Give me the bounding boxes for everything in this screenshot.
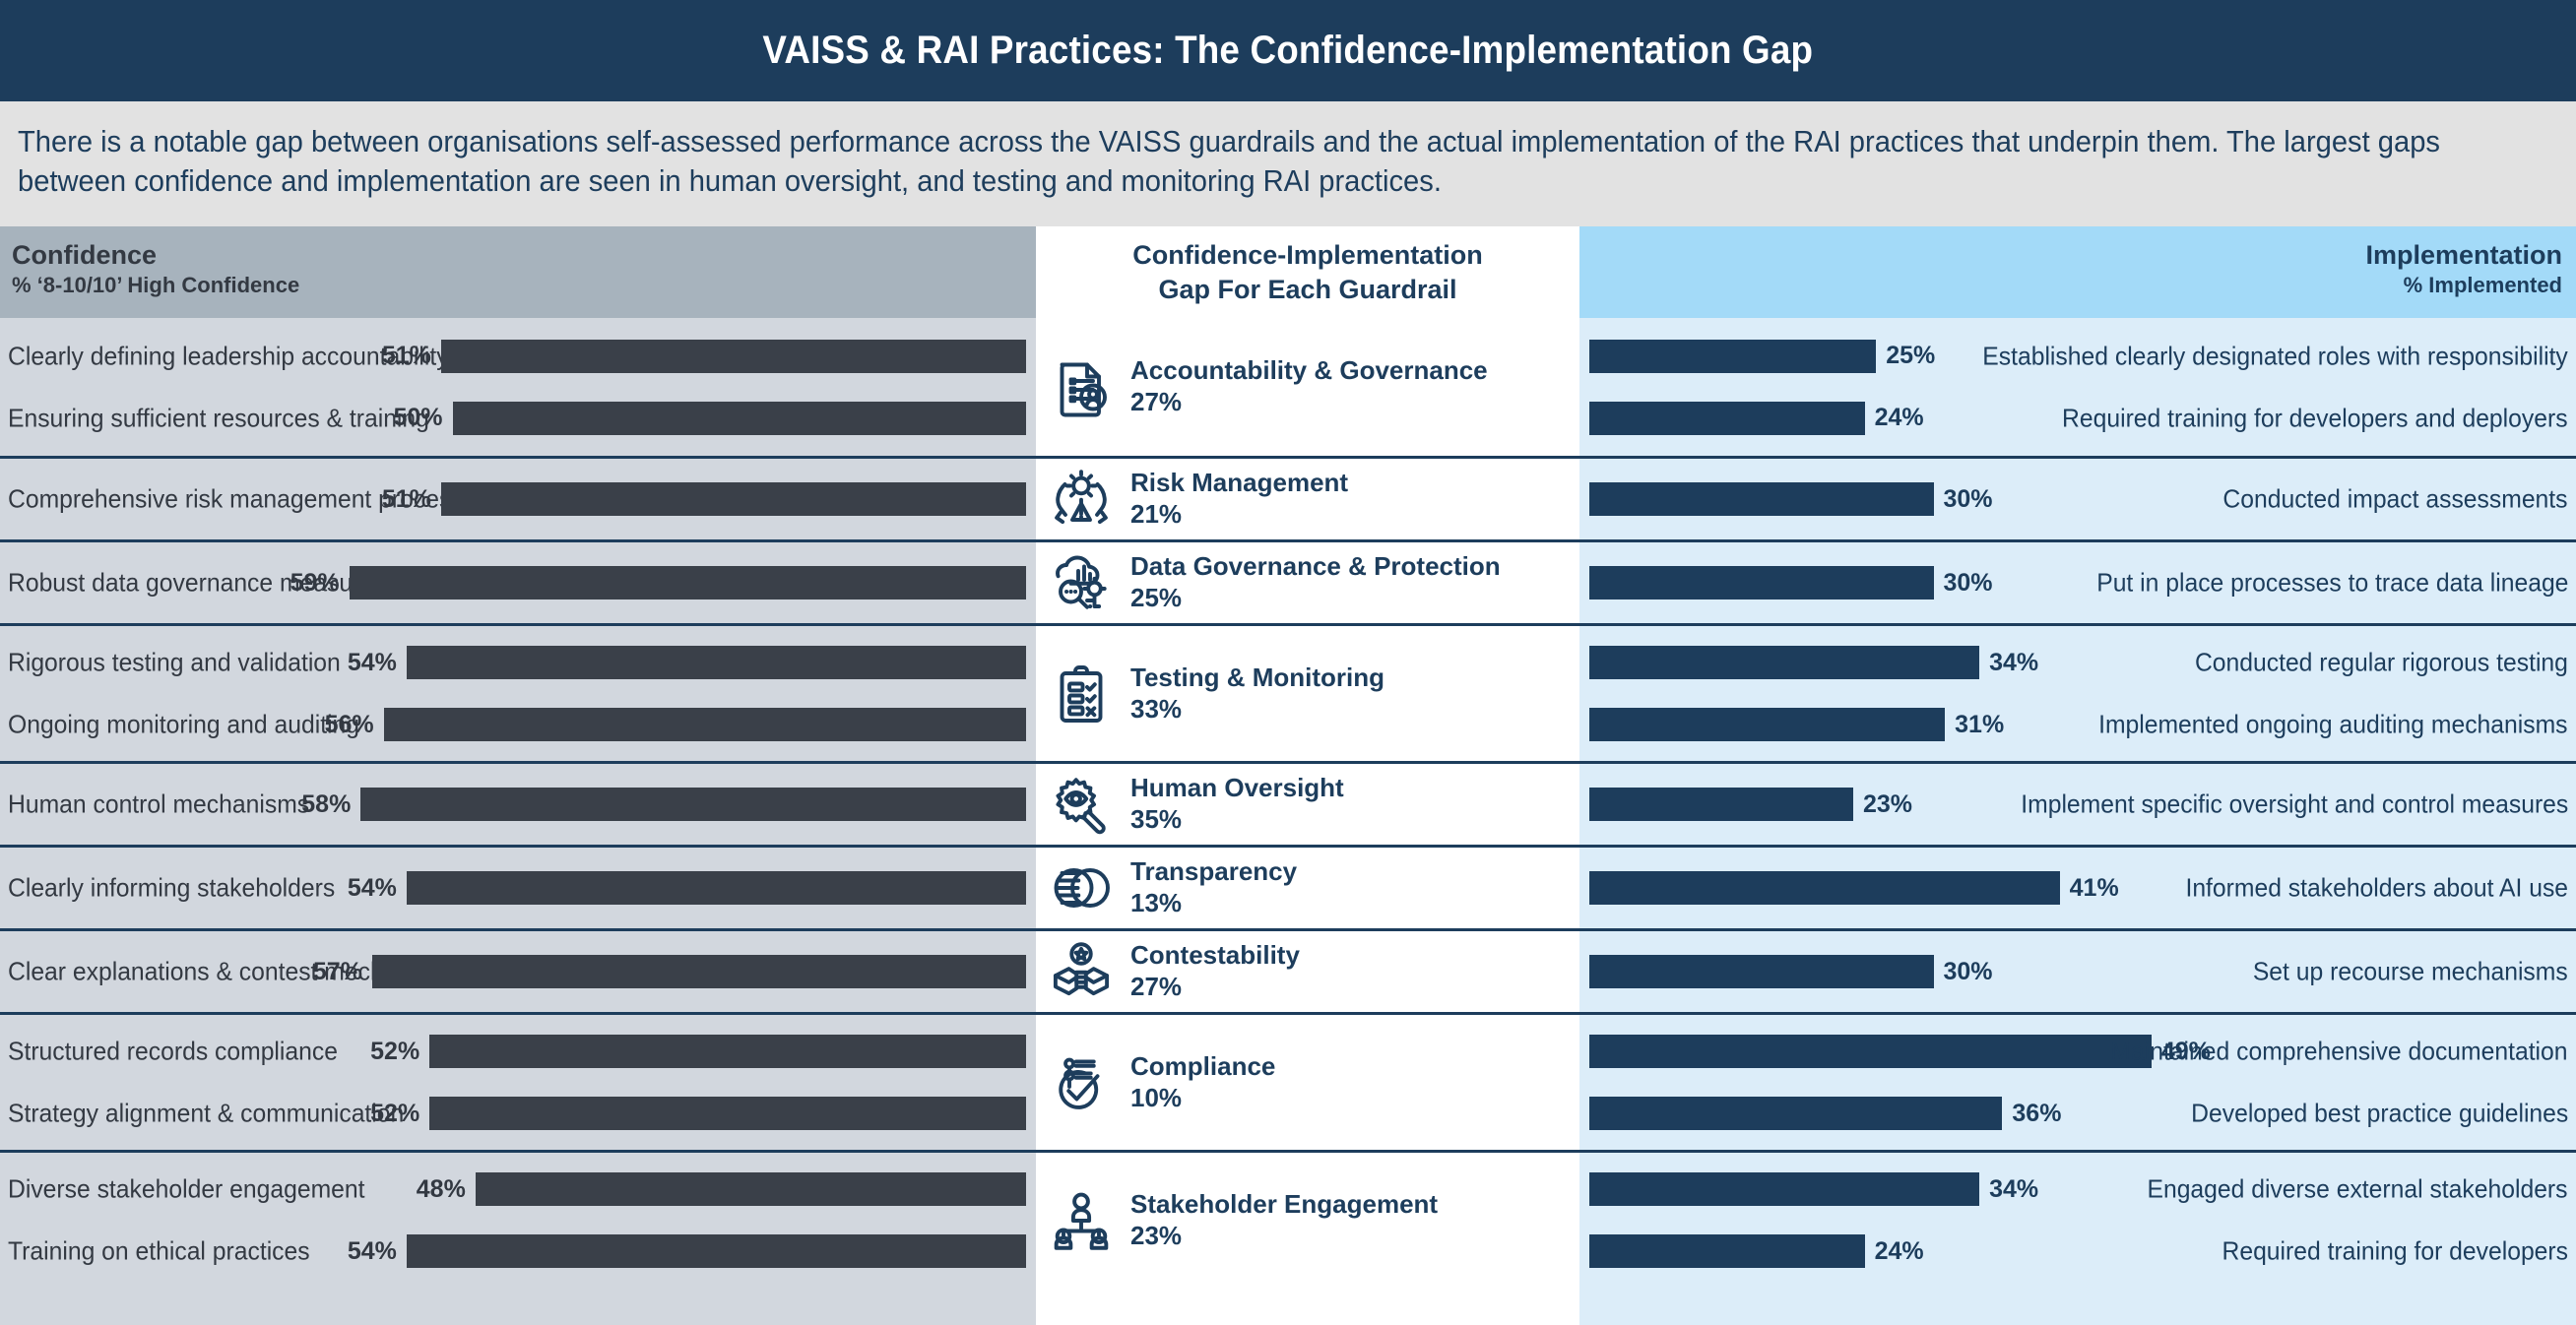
implementation-cell: 30%Set up recourse mechanisms (1579, 931, 2576, 1012)
implementation-bar-group: 34% (1589, 646, 2038, 679)
guardrail-text: Risk Management21% (1130, 468, 1348, 531)
confidence-row: Clearly informing stakeholders54% (0, 857, 1036, 919)
confidence-bar (360, 788, 1026, 821)
confidence-header-title: Confidence (12, 240, 1036, 272)
implementation-value: 34% (1989, 649, 2038, 677)
confidence-bar (407, 871, 1026, 905)
compliance-icon (1046, 1047, 1117, 1118)
confidence-row: Clear explanations & contest mechanisms5… (0, 941, 1036, 1003)
confidence-value: 58% (301, 790, 351, 819)
guardrail-name: Transparency (1130, 856, 1297, 887)
confidence-bar (441, 340, 1026, 373)
implementation-row: 24%Required training for developers and … (1579, 387, 2576, 449)
confidence-practice-label: Training on ethical practices (8, 1236, 310, 1267)
confidence-value: 52% (370, 1100, 419, 1128)
guardrail-gap-cell: Contestability27% (1036, 931, 1579, 1012)
guardrail-text: Data Governance & Protection25% (1130, 551, 1501, 614)
confidence-practice-label: Rigorous testing and validation (8, 648, 341, 678)
confidence-cell: Rigorous testing and validation54%Ongoin… (0, 626, 1036, 761)
implementation-practice-label: Conducted impact assessments (2223, 484, 2568, 515)
implementation-row: 36%Developed best practice guidelines (1579, 1083, 2576, 1145)
gap-header-line1: Confidence-Implementation (1132, 240, 1483, 270)
confidence-bar (441, 482, 1026, 516)
transparency-icon (1046, 852, 1117, 923)
implementation-row: 24%Required training for developers (1579, 1221, 2576, 1283)
confidence-bar (350, 566, 1026, 599)
guardrail-name: Risk Management (1130, 468, 1348, 498)
guardrail-group: Clearly informing stakeholders54%Transpa… (0, 845, 2576, 928)
implementation-bar (1589, 402, 1865, 435)
confidence-practice-label: Diverse stakeholder engagement (8, 1174, 364, 1205)
confidence-row: Diverse stakeholder engagement48% (0, 1159, 1036, 1221)
implementation-cell: 41%Informed stakeholders about AI use (1579, 848, 2576, 928)
implementation-bar (1589, 482, 1934, 516)
confidence-bar (407, 1234, 1026, 1268)
confidence-value: 50% (393, 404, 442, 432)
confidence-practice-label: Clearly informing stakeholders (8, 873, 335, 904)
guardrail-group: Human control mechanisms58%Human Oversig… (0, 761, 2576, 845)
implementation-bar-group: 30% (1589, 955, 1993, 988)
implementation-value: 24% (1875, 404, 1924, 432)
confidence-row: Rigorous testing and validation54% (0, 632, 1036, 694)
confidence-bar (453, 402, 1027, 435)
testing-monitoring-icon (1046, 659, 1117, 729)
confidence-cell: Clearly defining leadership accountabili… (0, 318, 1036, 456)
implementation-value: 23% (1863, 790, 1912, 819)
implementation-cell: 34%Conducted regular rigorous testing31%… (1579, 626, 2576, 761)
confidence-value: 52% (370, 1038, 419, 1066)
implementation-practice-label: Developed best practice guidelines (2191, 1099, 2568, 1129)
guardrail-text: Compliance10% (1130, 1051, 1275, 1114)
implementation-bar-group: 31% (1589, 708, 2004, 741)
confidence-bar (407, 646, 1026, 679)
implementation-bar (1589, 708, 1945, 741)
implementation-column-header: Implementation % Implemented (1579, 226, 2576, 318)
implementation-row: 34%Conducted regular rigorous testing (1579, 632, 2576, 694)
implementation-practice-label: Set up recourse mechanisms (2253, 957, 2568, 987)
implementation-bar-group: 34% (1589, 1172, 2038, 1206)
confidence-practice-label: Human control mechanisms (8, 789, 309, 820)
confidence-row: Clearly defining leadership accountabili… (0, 325, 1036, 387)
guardrail-gap-cell: Accountability & Governance27% (1036, 318, 1579, 456)
guardrail-name: Human Oversight (1130, 773, 1344, 803)
confidence-row: Training on ethical practices54% (0, 1221, 1036, 1283)
confidence-value: 56% (325, 711, 374, 739)
guardrail-text: Transparency13% (1130, 856, 1297, 919)
confidence-row: Structured records compliance52% (0, 1021, 1036, 1083)
guardrail-name: Compliance (1130, 1051, 1275, 1082)
confidence-cell: Robust data governance measures59% (0, 542, 1036, 623)
implementation-bar (1589, 646, 1979, 679)
guardrail-name: Testing & Monitoring (1130, 662, 1385, 693)
implementation-practice-label: Put in place processes to trace data lin… (2096, 568, 2568, 599)
confidence-bar-group: 52% (370, 1097, 1026, 1130)
implementation-practice-label: Maintained comprehensive documentation (2111, 1037, 2568, 1067)
confidence-value: 54% (348, 874, 397, 903)
guardrail-group: Comprehensive risk management processes5… (0, 456, 2576, 539)
implementation-value: 30% (1944, 569, 1993, 598)
guardrail-text: Testing & Monitoring33% (1130, 662, 1385, 726)
implementation-bar (1589, 1035, 2152, 1068)
implementation-value: 41% (2070, 874, 2119, 903)
implementation-row: 30%Set up recourse mechanisms (1579, 941, 2576, 1003)
implementation-row: 49%Maintained comprehensive documentatio… (1579, 1021, 2576, 1083)
confidence-value: 51% (382, 342, 431, 370)
implementation-bar (1589, 1234, 1865, 1268)
confidence-row: Ensuring sufficient resources & training… (0, 387, 1036, 449)
implementation-practice-label: Conducted regular rigorous testing (2195, 648, 2568, 678)
implementation-row: 30%Put in place processes to trace data … (1579, 552, 2576, 614)
confidence-cell: Diverse stakeholder engagement48%Trainin… (0, 1153, 1036, 1288)
implementation-bar (1589, 788, 1853, 821)
implementation-bar (1589, 1097, 2002, 1130)
confidence-value: 54% (348, 1237, 397, 1266)
guardrail-gap-cell: Transparency13% (1036, 848, 1579, 928)
guardrail-name: Contestability (1130, 940, 1300, 971)
confidence-value: 51% (382, 485, 431, 514)
confidence-bar-group: 51% (382, 482, 1026, 516)
implementation-row: 31%Implemented ongoing auditing mechanis… (1579, 694, 2576, 756)
guardrail-name: Accountability & Governance (1130, 355, 1488, 386)
implementation-bar-group: 24% (1589, 1234, 1924, 1268)
implementation-value: 30% (1944, 958, 1993, 986)
confidence-value: 48% (417, 1175, 466, 1204)
guardrail-gap-cell: Data Governance & Protection25% (1036, 542, 1579, 623)
implementation-cell: 34%Engaged diverse external stakeholders… (1579, 1153, 2576, 1288)
confidence-value: 59% (290, 569, 340, 598)
confidence-row: Strategy alignment & communication52% (0, 1083, 1036, 1145)
title-bar: VAISS & RAI Practices: The Confidence-Im… (0, 0, 2576, 101)
accountability-icon (1046, 351, 1117, 422)
implementation-value: 31% (1955, 711, 2004, 739)
guardrail-text: Contestability27% (1130, 940, 1300, 1003)
confidence-cell: Human control mechanisms58% (0, 764, 1036, 845)
confidence-practice-label: Strategy alignment & communication (8, 1099, 404, 1129)
confidence-value: 57% (313, 958, 362, 986)
guardrail-gap-value: 35% (1130, 803, 1344, 836)
implementation-bar-group: 30% (1589, 566, 1993, 599)
implementation-bar-group: 41% (1589, 871, 2119, 905)
confidence-column-header: Confidence % ‘8-10/10’ High Confidence (0, 226, 1036, 318)
confidence-bar-group: 50% (393, 402, 1026, 435)
implementation-value: 25% (1886, 342, 1935, 370)
guardrail-text: Stakeholder Engagement23% (1130, 1189, 1438, 1252)
confidence-bar (429, 1035, 1026, 1068)
confidence-practice-label: Ongoing monitoring and auditing (8, 710, 359, 740)
guardrail-group-list: Clearly defining leadership accountabili… (0, 318, 2576, 1288)
guardrail-name: Stakeholder Engagement (1130, 1189, 1438, 1220)
confidence-bar-group: 58% (301, 788, 1026, 821)
confidence-bar (372, 955, 1026, 988)
implementation-value: 36% (2012, 1100, 2061, 1128)
description-bar: There is a notable gap between organisat… (0, 101, 2576, 226)
confidence-value: 54% (348, 649, 397, 677)
confidence-row: Comprehensive risk management processes5… (0, 469, 1036, 531)
implementation-cell: 49%Maintained comprehensive documentatio… (1579, 1015, 2576, 1150)
confidence-row: Robust data governance measures59% (0, 552, 1036, 614)
confidence-cell: Clear explanations & contest mechanisms5… (0, 931, 1036, 1012)
implementation-row: 34%Engaged diverse external stakeholders (1579, 1159, 2576, 1221)
guardrail-gap-cell: Compliance10% (1036, 1015, 1579, 1150)
confidence-bar-group: 51% (382, 340, 1026, 373)
confidence-bar-group: 56% (325, 708, 1026, 741)
gap-header-line2: Gap For Each Guardrail (1158, 275, 1456, 304)
implementation-cell: 25%Established clearly designated roles … (1579, 318, 2576, 456)
implementation-cell: 30%Conducted impact assessments (1579, 459, 2576, 539)
implementation-row: 30%Conducted impact assessments (1579, 469, 2576, 531)
guardrail-group: Structured records compliance52%Strategy… (0, 1012, 2576, 1150)
guardrail-gap-value: 23% (1130, 1220, 1438, 1252)
implementation-cell: 30%Put in place processes to trace data … (1579, 542, 2576, 623)
confidence-row: Human control mechanisms58% (0, 774, 1036, 836)
implementation-value: 34% (1989, 1175, 2038, 1204)
implementation-bar-group: 23% (1589, 788, 1912, 821)
implementation-practice-label: Engaged diverse external stakeholders (2148, 1174, 2568, 1205)
implementation-bar (1589, 566, 1934, 599)
guardrail-group: Clearly defining leadership accountabili… (0, 318, 2576, 456)
page-title: VAISS & RAI Practices: The Confidence-Im… (763, 29, 1814, 73)
implementation-cell: 23%Implement specific oversight and cont… (1579, 764, 2576, 845)
implementation-row: 23%Implement specific oversight and cont… (1579, 774, 2576, 836)
implementation-bar-group: 30% (1589, 482, 1993, 516)
guardrail-gap-value: 27% (1130, 971, 1300, 1003)
guardrail-group: Diverse stakeholder engagement48%Trainin… (0, 1150, 2576, 1288)
implementation-bar (1589, 871, 2060, 905)
confidence-bar (476, 1172, 1026, 1206)
implementation-practice-label: Implement specific oversight and control… (2021, 789, 2568, 820)
guardrail-group: Robust data governance measures59%Data G… (0, 539, 2576, 623)
guardrail-group: Clear explanations & contest mechanisms5… (0, 928, 2576, 1012)
confidence-cell: Structured records compliance52%Strategy… (0, 1015, 1036, 1150)
gap-header-title: Confidence-Implementation Gap For Each G… (1132, 238, 1483, 306)
guardrail-gap-value: 13% (1130, 887, 1297, 919)
implementation-bar (1589, 955, 1934, 988)
implementation-bar (1589, 1172, 1979, 1206)
gap-column-header: Confidence-Implementation Gap For Each G… (1036, 226, 1579, 318)
implementation-bar-group: 25% (1589, 340, 1935, 373)
guardrail-gap-cell: Human Oversight35% (1036, 764, 1579, 845)
confidence-bar-group: 52% (370, 1035, 1026, 1068)
contestability-icon (1046, 936, 1117, 1007)
chart-board: Confidence % ‘8-10/10’ High Confidence C… (0, 226, 2576, 1325)
guardrail-gap-value: 21% (1130, 498, 1348, 531)
guardrail-text: Accountability & Governance27% (1130, 355, 1488, 418)
guardrail-group: Rigorous testing and validation54%Ongoin… (0, 623, 2576, 761)
data-governance-icon (1046, 547, 1117, 618)
implementation-practice-label: Established clearly designated roles wit… (1983, 341, 2568, 371)
risk-management-icon (1046, 464, 1117, 535)
confidence-bar-group: 54% (348, 1234, 1026, 1268)
guardrail-gap-value: 33% (1130, 693, 1385, 726)
stakeholder-engagement-icon (1046, 1185, 1117, 1256)
description-text: There is a notable gap between organisat… (18, 123, 2444, 201)
implementation-bar (1589, 340, 1876, 373)
implementation-value: 24% (1875, 1237, 1924, 1266)
guardrail-text: Human Oversight35% (1130, 773, 1344, 836)
implementation-bar-group: 24% (1589, 402, 1924, 435)
guardrail-gap-value: 27% (1130, 386, 1488, 418)
guardrail-gap-cell: Risk Management21% (1036, 459, 1579, 539)
human-oversight-icon (1046, 769, 1117, 840)
implementation-practice-label: Implemented ongoing auditing mechanisms (2099, 710, 2568, 740)
implementation-value: 30% (1944, 485, 1993, 514)
implementation-practice-label: Required training for developers and dep… (2062, 403, 2568, 433)
guardrail-gap-value: 25% (1130, 582, 1501, 614)
guardrail-gap-cell: Testing & Monitoring33% (1036, 626, 1579, 761)
confidence-bar-group: 54% (348, 871, 1026, 905)
confidence-practice-label: Structured records compliance (8, 1037, 338, 1067)
confidence-cell: Comprehensive risk management processes5… (0, 459, 1036, 539)
implementation-row: 41%Informed stakeholders about AI use (1579, 857, 2576, 919)
confidence-cell: Clearly informing stakeholders54% (0, 848, 1036, 928)
implementation-bar-group: 36% (1589, 1097, 2061, 1130)
confidence-bar-group: 54% (348, 646, 1026, 679)
guardrail-gap-value: 10% (1130, 1082, 1275, 1114)
confidence-bar (384, 708, 1026, 741)
implementation-practice-label: Informed stakeholders about AI use (2185, 873, 2568, 904)
implementation-practice-label: Required training for developers (2222, 1236, 2569, 1267)
implementation-header-title: Implementation (1579, 240, 2562, 272)
implementation-row: 25%Established clearly designated roles … (1579, 325, 2576, 387)
confidence-bar-group: 59% (290, 566, 1026, 599)
implementation-header-subtitle: % Implemented (1579, 272, 2562, 299)
confidence-bar (429, 1097, 1026, 1130)
infographic-page: VAISS & RAI Practices: The Confidence-Im… (0, 0, 2576, 1325)
confidence-row: Ongoing monitoring and auditing56% (0, 694, 1036, 756)
confidence-header-subtitle: % ‘8-10/10’ High Confidence (12, 272, 1036, 299)
confidence-bar-group: 48% (417, 1172, 1026, 1206)
confidence-practice-label: Ensuring sufficient resources & training (8, 403, 429, 433)
confidence-bar-group: 57% (313, 955, 1026, 988)
guardrail-name: Data Governance & Protection (1130, 551, 1501, 582)
guardrail-gap-cell: Stakeholder Engagement23% (1036, 1153, 1579, 1288)
